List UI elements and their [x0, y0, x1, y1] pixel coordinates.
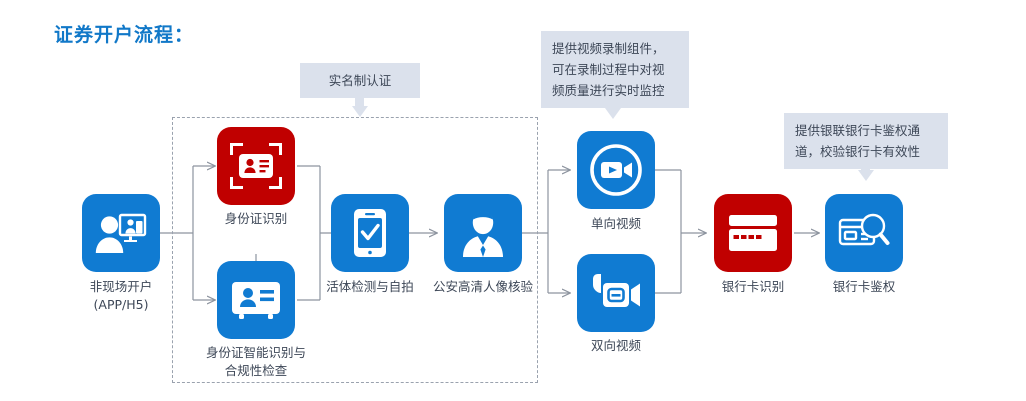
node-label-id-card-recognition: 身份证识别: [176, 210, 336, 228]
node-label-bank-card-authentication: 银行卡鉴权: [784, 278, 944, 296]
label-line: 单向视频: [536, 215, 696, 233]
callout-real-name-authentication: 实名制认证: [300, 63, 420, 98]
callout-unionpay-auth-channel: 提供银联银行卡鉴权通 道，校验银行卡有效性: [784, 113, 948, 169]
callout-arrow-unionpay: [858, 170, 874, 181]
callout-stem-unionpay: [861, 162, 870, 170]
phone-check-icon: [352, 207, 388, 259]
node-id-card-recognition[interactable]: [217, 127, 295, 205]
callout-line: 提供视频录制组件，: [552, 38, 678, 59]
callout-stem-real-name: [355, 98, 364, 106]
credit-card-icon: [728, 214, 778, 252]
id-card-scan-icon: [230, 143, 282, 189]
node-bank-card-recognition[interactable]: [714, 194, 792, 272]
video-play-circle-icon: [589, 143, 643, 197]
node-label-police-portrait-verification: 公安高清人像核验: [403, 278, 563, 296]
police-officer-icon: [459, 208, 507, 258]
callout-arrow-video-recording: [605, 108, 621, 119]
callout-arrow-real-name: [352, 106, 368, 117]
node-label-one-way-video: 单向视频: [536, 215, 696, 233]
node-label-id-card-smart-recognition: 身份证智能识别与 合规性检查: [176, 344, 336, 380]
callout-stem-video-recording: [608, 100, 617, 108]
callout-line: 可在录制过程中对视: [552, 59, 678, 80]
person-screen-icon: [95, 212, 147, 254]
label-line: (APP/H5): [41, 296, 201, 314]
node-bank-card-authentication[interactable]: [825, 194, 903, 272]
callout-line: 提供银联银行卡鉴权通: [795, 120, 937, 141]
label-line: 双向视频: [536, 337, 696, 355]
node-police-portrait-verification[interactable]: [444, 194, 522, 272]
node-label-non-onsite-account-opening: 非现场开户 (APP/H5): [41, 278, 201, 314]
callout-line: 实名制认证: [311, 70, 409, 91]
label-line: 身份证识别: [176, 210, 336, 228]
node-non-onsite-account-opening[interactable]: [82, 194, 160, 272]
label-line: 非现场开户: [41, 278, 201, 296]
node-id-card-smart-recognition[interactable]: [217, 261, 295, 339]
id-card-person-icon: [230, 280, 282, 320]
camcorder-icon: [589, 271, 643, 315]
node-two-way-video[interactable]: [577, 254, 655, 332]
callout-line: 道，校验银行卡有效性: [795, 141, 937, 162]
flowchart-canvas: 证券开户流程：: [0, 0, 1026, 401]
label-line: 公安高清人像核验: [403, 278, 563, 296]
card-magnifier-icon: [837, 210, 891, 256]
node-liveness-detection-selfie[interactable]: [331, 194, 409, 272]
node-label-two-way-video: 双向视频: [536, 337, 696, 355]
node-one-way-video[interactable]: [577, 131, 655, 209]
label-line: 身份证智能识别与: [176, 344, 336, 362]
label-line: 合规性检查: [176, 362, 336, 380]
page-title: 证券开户流程：: [54, 20, 194, 47]
label-line: 银行卡鉴权: [784, 278, 944, 296]
callout-line: 频质量进行实时监控: [552, 80, 678, 101]
callout-video-recording-component: 提供视频录制组件， 可在录制过程中对视 频质量进行实时监控: [541, 31, 689, 108]
